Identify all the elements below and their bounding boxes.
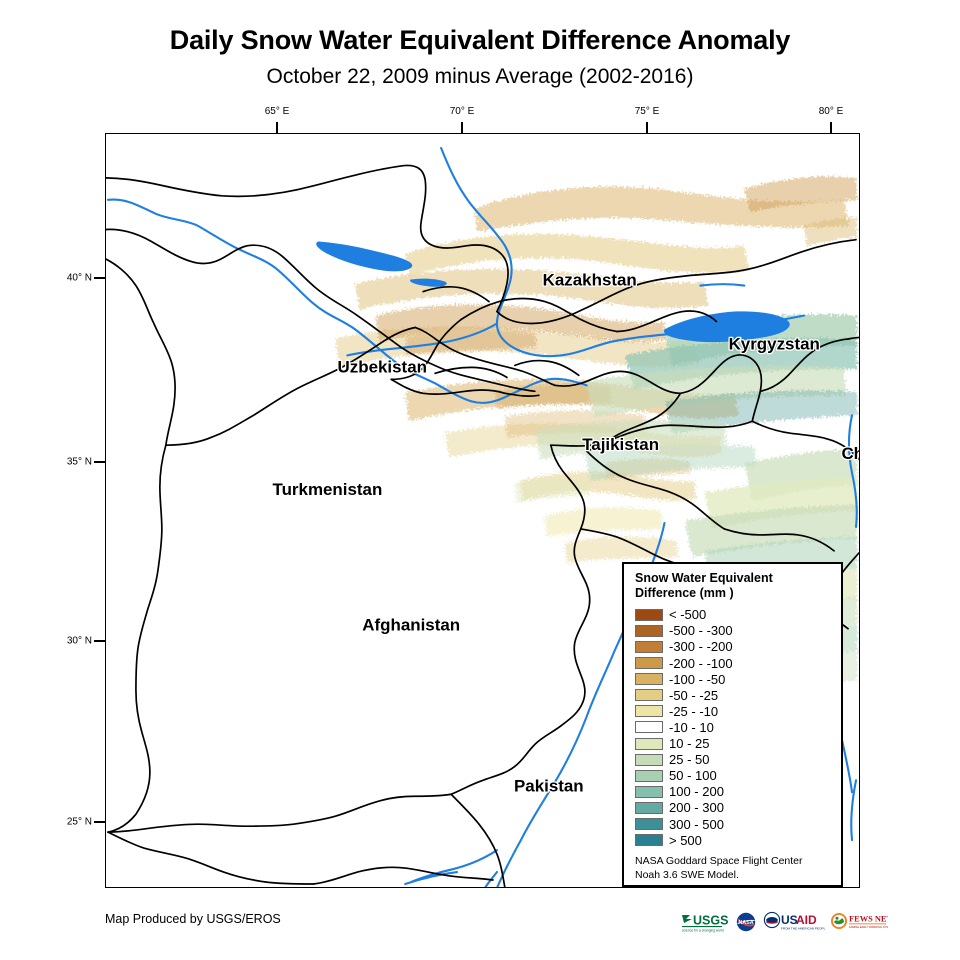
left-tick-mark	[94, 821, 105, 823]
left-tick-label: 40° N	[62, 273, 92, 284]
country-label-turkmenistan: Turkmenistan	[273, 480, 383, 499]
legend-label: -25 - -10	[669, 705, 718, 718]
top-tick-mark	[276, 122, 278, 133]
page-subtitle: October 22, 2009 minus Average (2002-201…	[0, 65, 960, 88]
legend-row: 200 - 300	[635, 800, 841, 816]
fewsnet-logo[interactable]: FEWS NET FAMINE EARLY WARNING SYSTEMS NE…	[830, 910, 888, 934]
left-tick-mark	[94, 277, 105, 279]
legend-label: -200 - -100	[669, 657, 733, 670]
country-label-kyrgyzstan: Kyrgyzstan	[729, 334, 820, 353]
legend-row: -300 - -200	[635, 639, 841, 655]
legend-row: > 500	[635, 832, 841, 848]
left-tick-mark	[94, 461, 105, 463]
svg-text:science for a changing world: science for a changing world	[682, 929, 724, 933]
country-label-tajikistan: Tajikistan	[582, 435, 659, 454]
legend-label: -50 - -25	[669, 689, 718, 702]
legend-swatch	[635, 834, 663, 846]
svg-text:FAMINE EARLY WARNING SYSTEMS N: FAMINE EARLY WARNING SYSTEMS NETWORK	[849, 925, 888, 929]
legend-row: < -500	[635, 607, 841, 623]
legend-label: 200 - 300	[669, 801, 724, 814]
svg-text:AID: AID	[796, 913, 817, 927]
top-tick-label: 65° E	[265, 106, 290, 117]
legend-swatch	[635, 802, 663, 814]
legend-source-line2: Noah 3.6 SWE Model.	[635, 869, 841, 883]
legend-swatch	[635, 673, 663, 685]
left-tick-label: 35° N	[62, 457, 92, 468]
country-label-kazakhstan: Kazakhstan	[543, 271, 637, 290]
legend-label: 25 - 50	[669, 753, 709, 766]
top-tick-mark	[461, 122, 463, 133]
top-tick-label: 80° E	[819, 106, 844, 117]
legend-row: 50 - 100	[635, 768, 841, 784]
footer-credit: Map Produced by USGS/EROS	[105, 912, 281, 926]
nasa-logo[interactable]: NASA	[734, 910, 758, 934]
legend-label: 100 - 200	[669, 785, 724, 798]
title-block: Daily Snow Water Equivalent Difference A…	[0, 26, 960, 88]
legend-row: -10 - 10	[635, 719, 841, 735]
legend-label: 50 - 100	[669, 769, 717, 782]
legend-source-note: NASA Goddard Space Flight Center Noah 3.…	[635, 855, 841, 883]
legend-swatch	[635, 689, 663, 701]
legend-title-line2: Difference (mm )	[635, 586, 825, 601]
country-label-uzbekistan: Uzbekistan	[338, 357, 427, 376]
legend-label: -500 - -300	[669, 624, 733, 637]
legend-label: 10 - 25	[669, 737, 709, 750]
country-label-pakistan: Pakistan	[514, 776, 584, 795]
top-tick-mark	[646, 122, 648, 133]
svg-text:USGS: USGS	[693, 914, 728, 928]
legend-swatch	[635, 786, 663, 798]
legend-row: 300 - 500	[635, 816, 841, 832]
legend-swatch	[635, 625, 663, 637]
legend-swatch	[635, 721, 663, 733]
svg-text:FROM THE AMERICAN PEOPLE: FROM THE AMERICAN PEOPLE	[781, 927, 825, 931]
legend-title-line1: Snow Water Equivalent	[635, 571, 825, 586]
legend-row: 10 - 25	[635, 736, 841, 752]
legend-row: -25 - -10	[635, 703, 841, 719]
svg-text:NASA: NASA	[738, 920, 753, 926]
legend-class-list: < -500 -500 - -300 -300 - -200 -200 - -1…	[635, 607, 841, 848]
legend-swatch	[635, 770, 663, 782]
legend-row: -100 - -50	[635, 671, 841, 687]
aral-sea	[316, 241, 412, 271]
legend-label: -100 - -50	[669, 673, 725, 686]
page-title: Daily Snow Water Equivalent Difference A…	[0, 26, 960, 56]
usgs-logo[interactable]: USGS science for a changing world	[681, 910, 729, 934]
legend-swatch	[635, 705, 663, 717]
left-tick-label: 30° N	[62, 636, 92, 647]
left-tick-mark	[94, 640, 105, 642]
country-label-china: China	[841, 444, 859, 463]
legend-title: Snow Water Equivalent Difference (mm )	[635, 571, 825, 602]
map-legend: Snow Water Equivalent Difference (mm ) <…	[622, 562, 843, 887]
legend-row: -200 - -100	[635, 655, 841, 671]
legend-label: -300 - -200	[669, 640, 733, 653]
legend-label: 300 - 500	[669, 818, 724, 831]
country-label-afghanistan: Afghanistan	[362, 616, 460, 635]
top-tick-label: 75° E	[635, 106, 660, 117]
legend-row: -500 - -300	[635, 623, 841, 639]
top-tick-label: 70° E	[450, 106, 475, 117]
legend-swatch	[635, 609, 663, 621]
left-tick-label: 25° N	[62, 817, 92, 828]
legend-swatch	[635, 754, 663, 766]
logo-strip: USGS science for a changing world NASA U…	[681, 909, 888, 935]
usaid-logo[interactable]: US AID FROM THE AMERICAN PEOPLE	[763, 910, 825, 934]
legend-source-line1: NASA Goddard Space Flight Center	[635, 855, 841, 869]
legend-row: -50 - -25	[635, 687, 841, 703]
legend-label: > 500	[669, 834, 702, 847]
svg-text:FEWS NET: FEWS NET	[849, 915, 888, 924]
legend-row: 25 - 50	[635, 752, 841, 768]
legend-swatch	[635, 818, 663, 830]
legend-label: < -500	[669, 608, 706, 621]
legend-label: -10 - 10	[669, 721, 714, 734]
legend-swatch	[635, 657, 663, 669]
legend-row: 100 - 200	[635, 784, 841, 800]
legend-swatch	[635, 738, 663, 750]
legend-swatch	[635, 641, 663, 653]
top-tick-mark	[830, 122, 832, 133]
